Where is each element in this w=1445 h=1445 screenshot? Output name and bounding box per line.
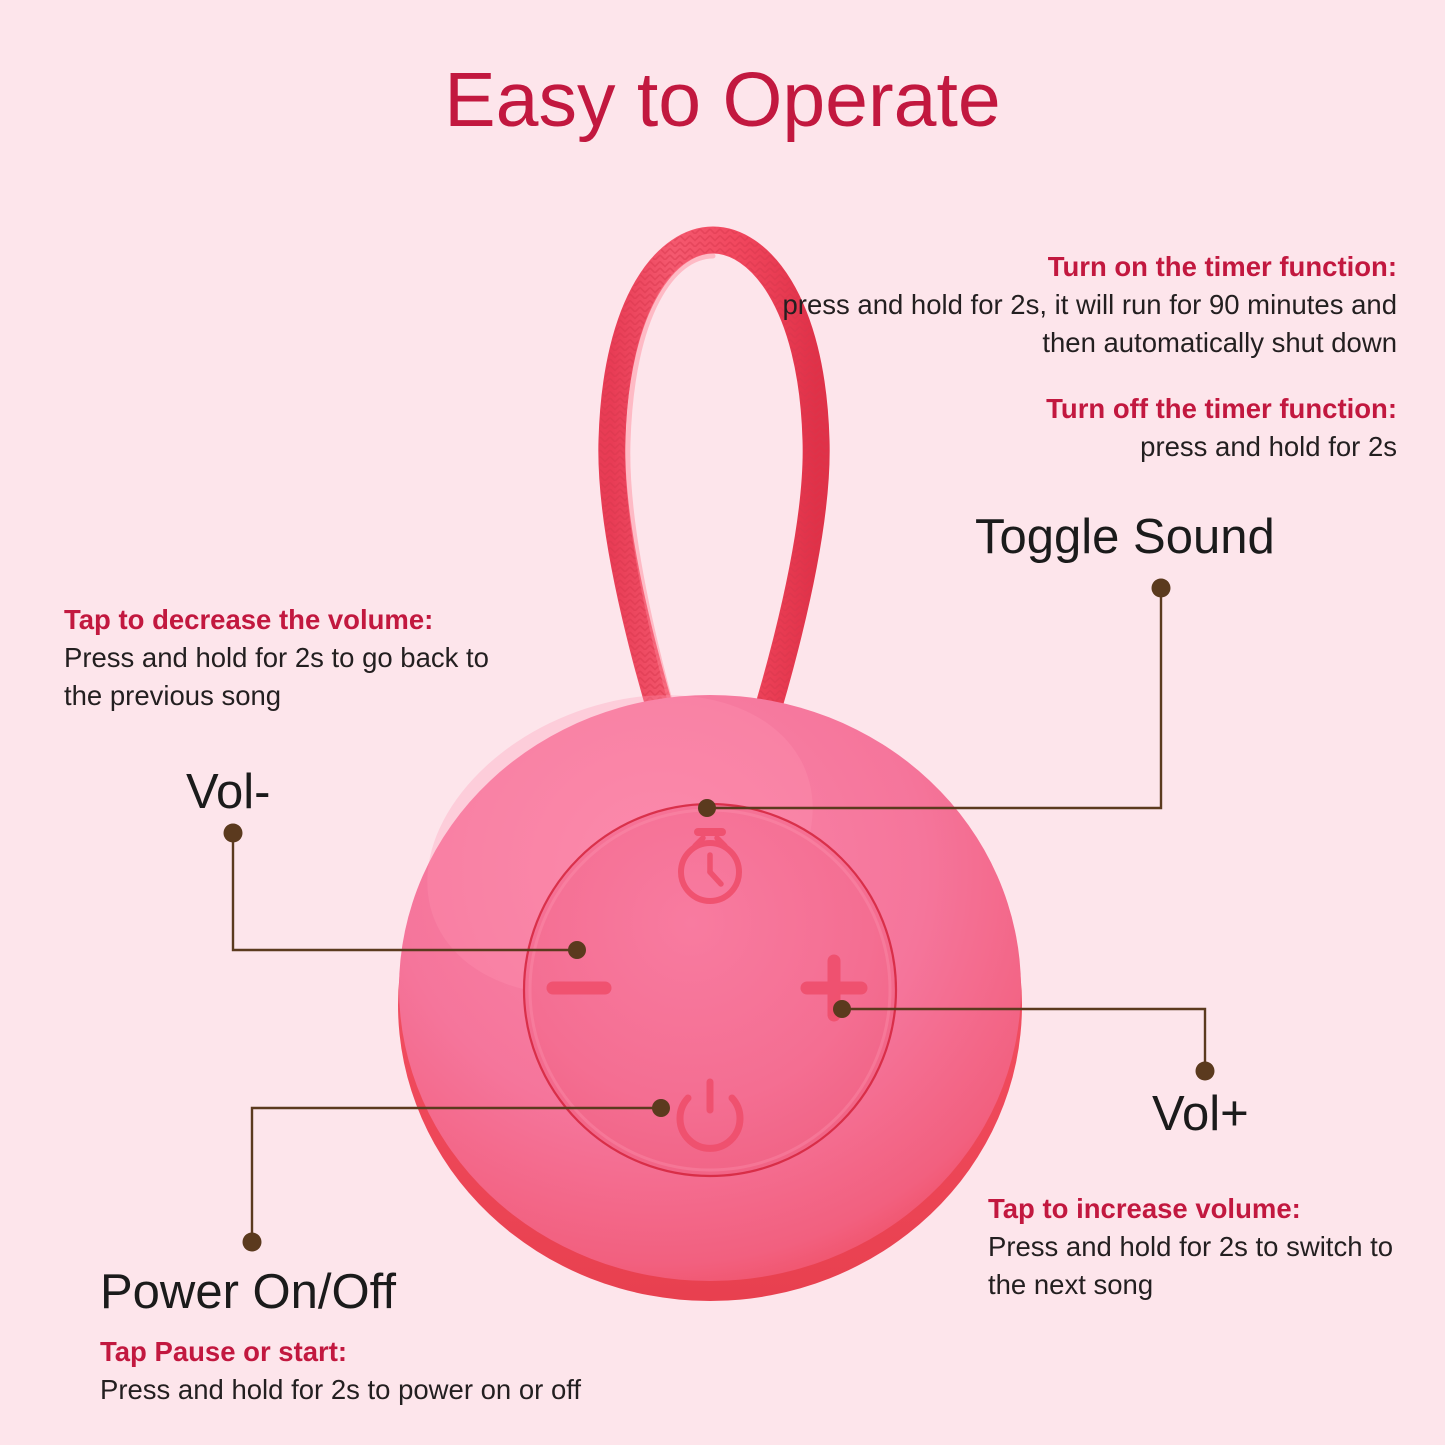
callout-power-heading: Tap Pause or start: xyxy=(100,1333,720,1371)
label-toggle-sound: Toggle Sound xyxy=(975,513,1275,562)
anchor-dot-vol-down-label xyxy=(224,824,243,843)
anchor-dot-power-label xyxy=(243,1233,262,1252)
leader-vol-up xyxy=(842,1009,1205,1071)
anchor-dot-vol-up-label xyxy=(1196,1062,1215,1081)
callout-volume-up-body: Press and hold for 2s to switch to the n… xyxy=(988,1228,1418,1304)
label-vol-up: Vol+ xyxy=(1152,1090,1249,1139)
anchor-dot-power-device xyxy=(652,1099,670,1117)
anchor-dot-toggle-sound-label xyxy=(1152,579,1171,598)
callout-timer-on-heading: Turn on the timer function: xyxy=(777,248,1397,286)
anchor-dot-vol-up-device xyxy=(833,1000,851,1018)
callout-timer-on: Turn on the timer function: press and ho… xyxy=(777,248,1397,362)
callout-volume-down: Tap to decrease the volume: Press and ho… xyxy=(64,601,534,715)
leader-power xyxy=(252,1108,661,1242)
infographic-canvas: Easy to Operate xyxy=(0,0,1445,1445)
callout-volume-down-body: Press and hold for 2s to go back to the … xyxy=(64,639,534,715)
label-vol-down: Vol- xyxy=(186,768,270,817)
leader-vol-down xyxy=(233,833,577,950)
anchor-dot-toggle-sound-device xyxy=(698,799,716,817)
callout-timer-off-heading: Turn off the timer function: xyxy=(777,390,1397,428)
callout-timer-off-body: press and hold for 2s xyxy=(777,428,1397,466)
callout-volume-up-heading: Tap to increase volume: xyxy=(988,1190,1418,1228)
callout-volume-down-heading: Tap to decrease the volume: xyxy=(64,601,534,639)
callout-timer-on-body: press and hold for 2s, it will run for 9… xyxy=(777,286,1397,362)
label-power: Power On/Off xyxy=(100,1268,396,1317)
callout-volume-up: Tap to increase volume: Press and hold f… xyxy=(988,1190,1418,1304)
leader-toggle-sound xyxy=(707,588,1161,808)
callout-power: Tap Pause or start: Press and hold for 2… xyxy=(100,1333,720,1409)
callout-power-body: Press and hold for 2s to power on or off xyxy=(100,1371,720,1409)
anchor-dot-vol-down-device xyxy=(568,941,586,959)
callout-timer-off: Turn off the timer function: press and h… xyxy=(777,390,1397,466)
